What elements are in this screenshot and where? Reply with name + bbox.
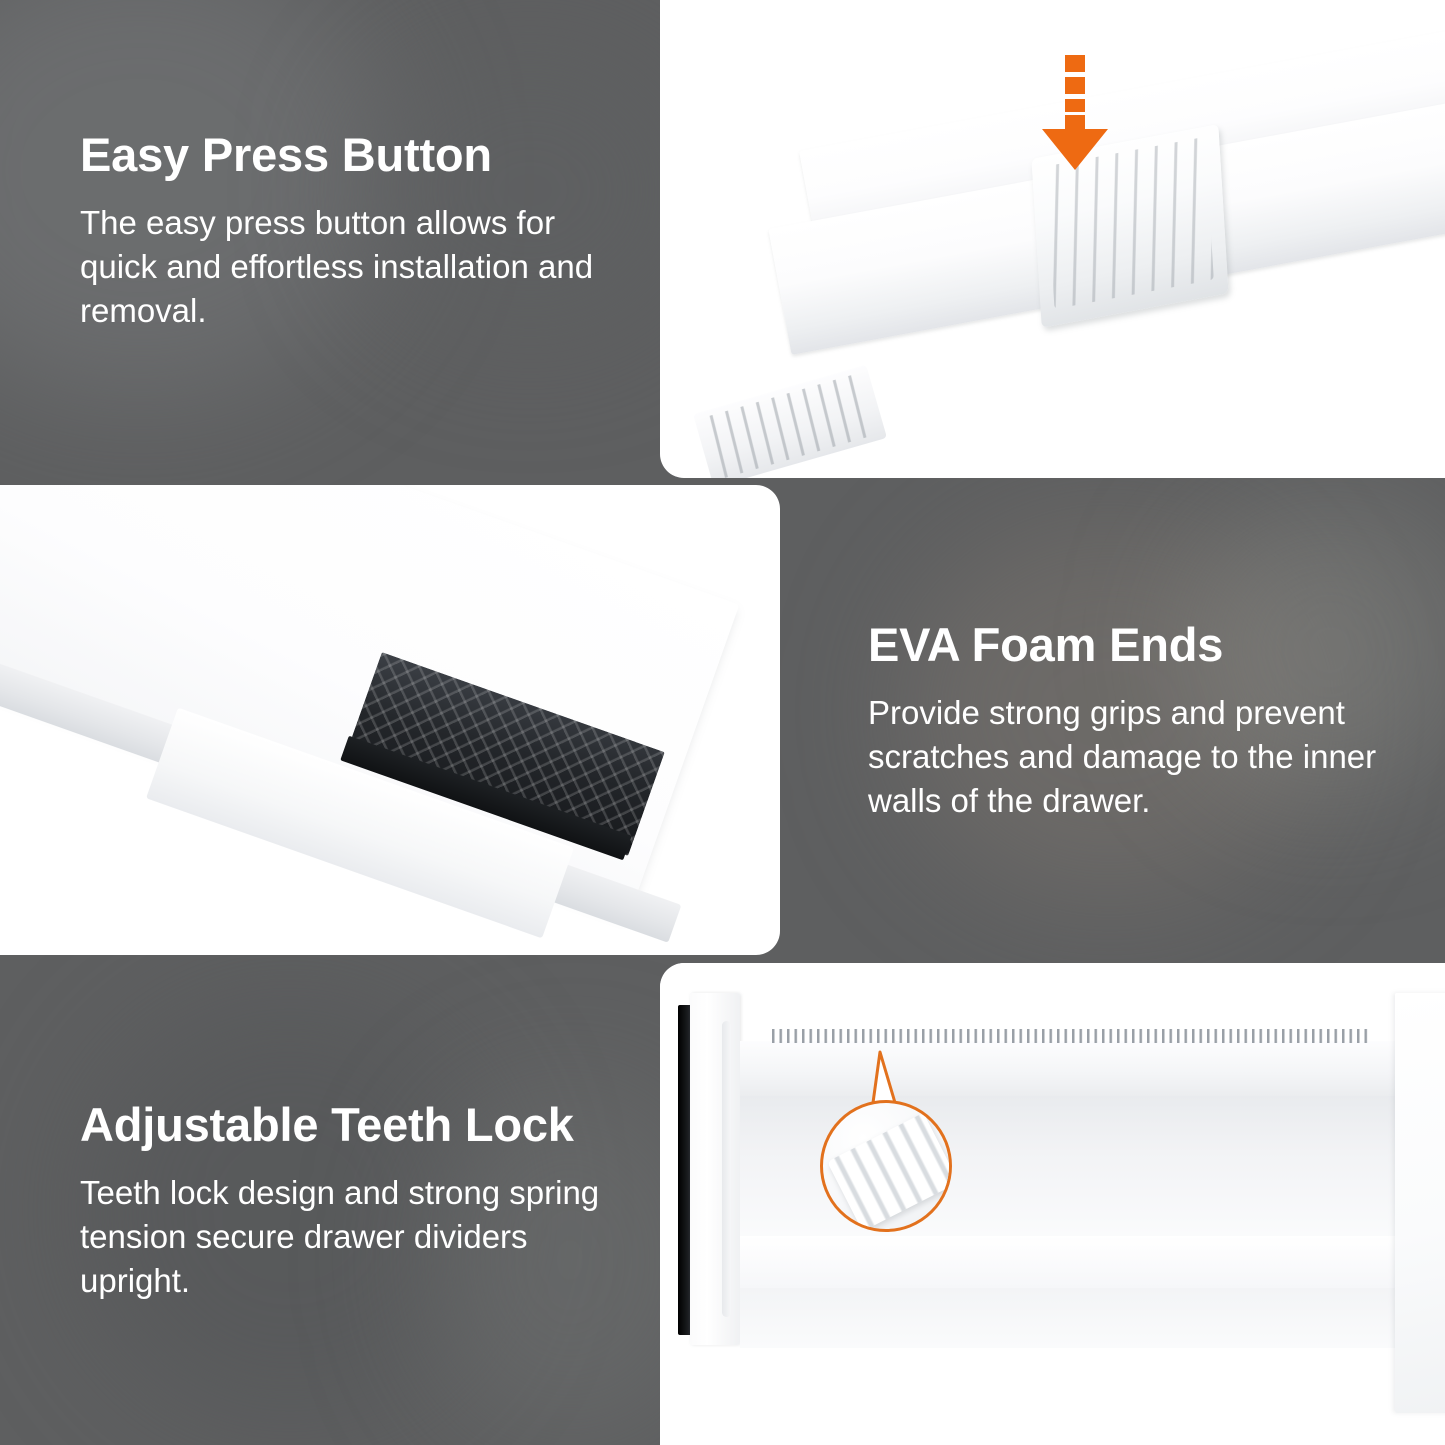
feature-body-press-button: The easy press button allows for quick a… bbox=[80, 201, 600, 333]
magnifier-callout-icon bbox=[810, 1048, 980, 1253]
sliding-panel bbox=[1395, 993, 1445, 1413]
feature-headline-teeth-lock: Adjustable Teeth Lock bbox=[80, 1100, 600, 1151]
feature-headline-eva-foam: EVA Foam Ends bbox=[868, 620, 1388, 671]
divider-end-cap-groove bbox=[722, 1021, 731, 1317]
press-button-secondary-ribs bbox=[702, 373, 877, 478]
callout-circle bbox=[820, 1100, 952, 1232]
feature-text-eva-foam: EVA Foam Ends Provide strong grips and p… bbox=[868, 620, 1388, 822]
teeth-lock-product-photo bbox=[660, 963, 1445, 1445]
feature-text-teeth-lock: Adjustable Teeth Lock Teeth lock design … bbox=[80, 1100, 600, 1302]
down-arrow-icon bbox=[1030, 55, 1120, 175]
divider-end-cap bbox=[690, 993, 740, 1345]
teeth-lock-rail bbox=[772, 1029, 1372, 1043]
feature-body-teeth-lock: Teeth lock design and strong spring tens… bbox=[80, 1171, 600, 1303]
infographic-stage: Easy Press Button The easy press button … bbox=[0, 0, 1445, 1445]
feature-headline-press-button: Easy Press Button bbox=[80, 130, 600, 181]
feature-text-press-button: Easy Press Button The easy press button … bbox=[80, 130, 600, 332]
press-button-secondary-part bbox=[693, 365, 887, 478]
divider-channel-shadow bbox=[740, 1288, 1395, 1348]
feature-image-eva-foam bbox=[0, 485, 780, 955]
feature-body-eva-foam: Provide strong grips and prevent scratch… bbox=[868, 691, 1388, 823]
feature-image-teeth-lock bbox=[660, 963, 1445, 1445]
eva-foam-product-photo bbox=[0, 485, 780, 955]
